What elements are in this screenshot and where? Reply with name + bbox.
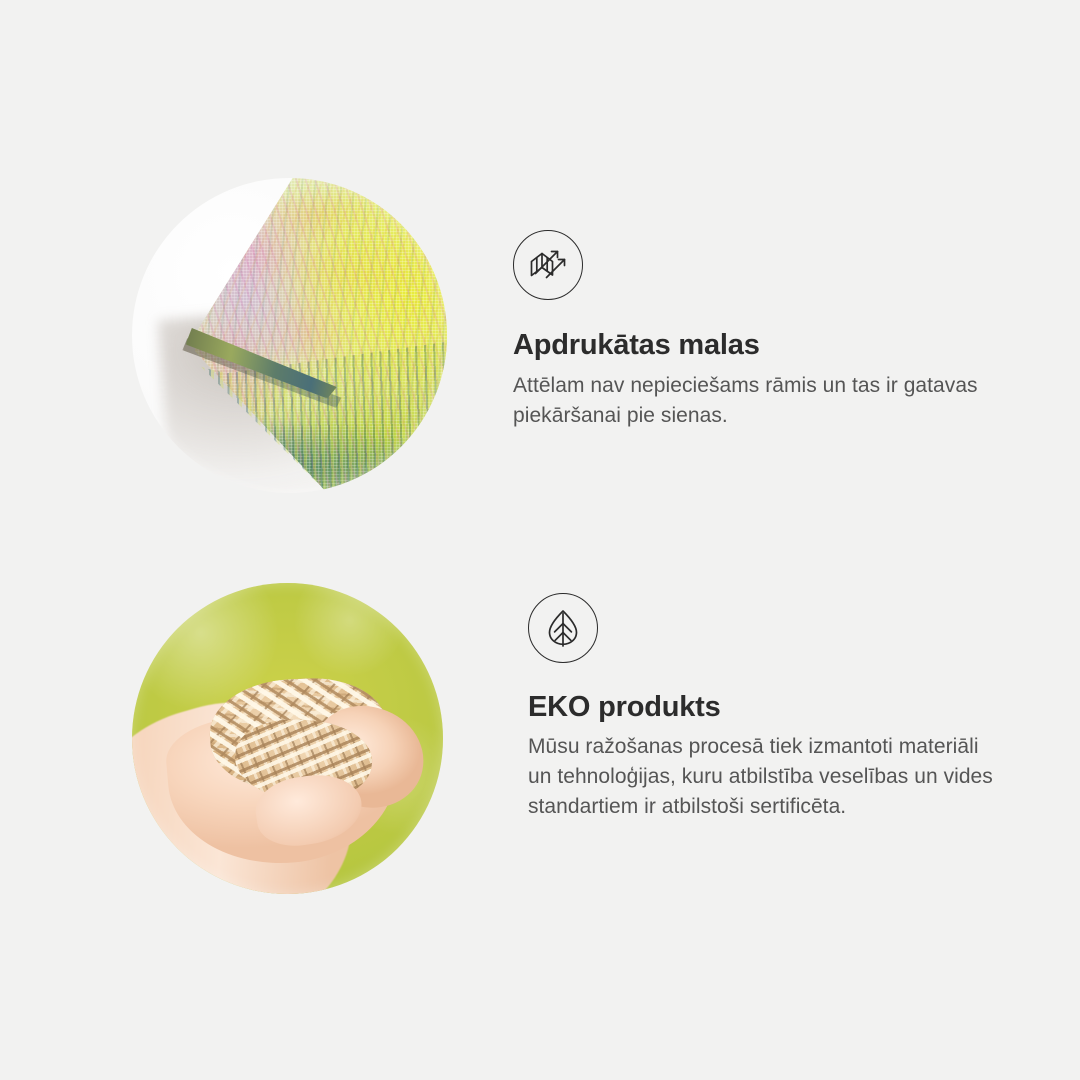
canvas-corner-photo xyxy=(132,178,447,493)
hands-wood-chips-photo xyxy=(132,583,443,894)
canvas-wrap-arrows-icon xyxy=(513,230,583,300)
feature-eco-product-title: EKO produkts xyxy=(528,691,1018,724)
feature-eco-product-body: Mūsu ražošanas procesā tiek izmantoti ma… xyxy=(528,732,996,822)
feature-printed-edges-text: Apdrukātas malas Attēlam nav nepieciešam… xyxy=(513,230,1013,431)
feature-eco-product-text: EKO produkts Mūsu ražošanas procesā tiek… xyxy=(528,593,1018,822)
feature-printed-edges-title: Apdrukātas malas xyxy=(513,329,1013,362)
infographic-page: Apdrukātas malas Attēlam nav nepieciešam… xyxy=(0,0,1080,1080)
leaf-icon xyxy=(528,593,598,663)
feature-printed-edges-body: Attēlam nav nepieciešams rāmis un tas ir… xyxy=(513,371,991,431)
